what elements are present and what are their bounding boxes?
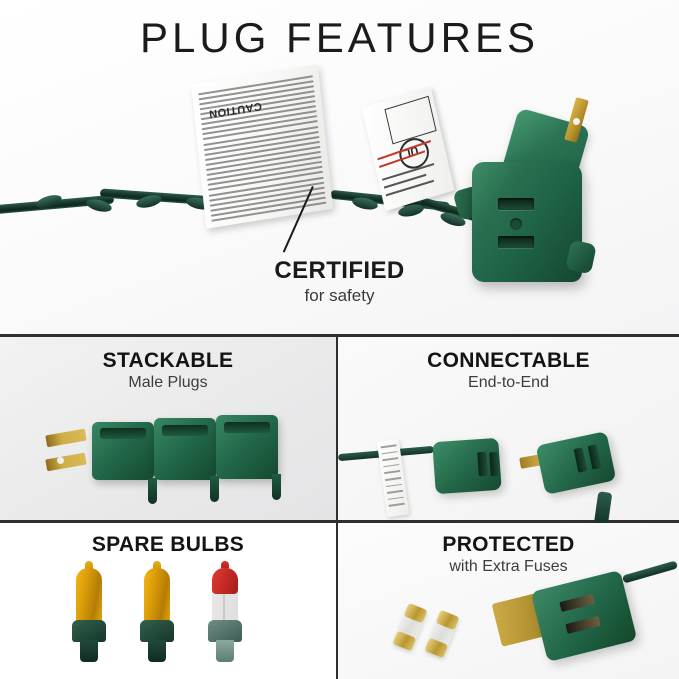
connectable-outlet-slot xyxy=(477,452,488,477)
caution-tag: CAUTION xyxy=(191,64,333,228)
ul-tag-box xyxy=(384,96,436,145)
connectable-outlet-slot xyxy=(489,452,500,477)
ul-text-line xyxy=(386,180,434,197)
bulb-red-cap xyxy=(212,568,238,594)
ul-certification-tag xyxy=(362,87,455,211)
panel-connectable-subtitle: End-to-End xyxy=(338,374,679,392)
hero-panel: PLUG FEATURES CAUTION xyxy=(0,0,679,335)
bulb-glass xyxy=(76,568,102,624)
certified-label: CERTIFIED xyxy=(0,258,679,283)
bulb-base xyxy=(208,620,242,642)
bulb-base xyxy=(72,620,106,642)
bulb-glass xyxy=(144,568,170,624)
bulb-pin xyxy=(80,640,98,662)
panel-stackable-subtitle: Male Plugs xyxy=(0,374,336,392)
panel-stackable-heading: STACKABLE Male Plugs xyxy=(0,349,336,392)
stackable-plug-leg xyxy=(210,476,219,502)
stackable-prong-hole xyxy=(57,457,64,464)
certified-sublabel: for safety xyxy=(0,286,679,306)
bulb-base xyxy=(140,620,174,642)
bulb-filament xyxy=(223,592,225,622)
certified-callout: CERTIFIED for safety xyxy=(0,258,679,306)
stackable-plug-top xyxy=(100,428,146,439)
page-title: PLUG FEATURES xyxy=(0,17,679,59)
panel-spare-bulbs-title: SPARE BULBS xyxy=(0,533,336,556)
infographic-sheet: PLUG FEATURES CAUTION xyxy=(0,0,679,679)
plug-outlet-slot xyxy=(498,198,534,210)
stackable-plug-leg xyxy=(148,478,157,504)
plug-outlet-slot xyxy=(498,236,534,248)
panel-protected-heading: PROTECTED with Extra Fuses xyxy=(338,533,679,576)
panel-spare-bulbs: SPARE BULBS xyxy=(0,523,336,679)
panel-connectable-heading: CONNECTABLE End-to-End xyxy=(338,349,679,392)
panel-spare-bulbs-heading: SPARE BULBS xyxy=(0,533,336,558)
plug-ground-hole xyxy=(510,218,522,230)
bulb-pin xyxy=(148,640,166,662)
panel-protected-title: PROTECTED xyxy=(338,533,679,556)
panel-stackable-title: STACKABLE xyxy=(0,349,336,372)
bulb-pin xyxy=(216,640,234,662)
panel-connectable-title: CONNECTABLE xyxy=(338,349,679,372)
stackable-plug-top xyxy=(162,425,208,436)
stackable-plug-top xyxy=(224,422,270,433)
stackable-plug-leg xyxy=(272,474,281,500)
